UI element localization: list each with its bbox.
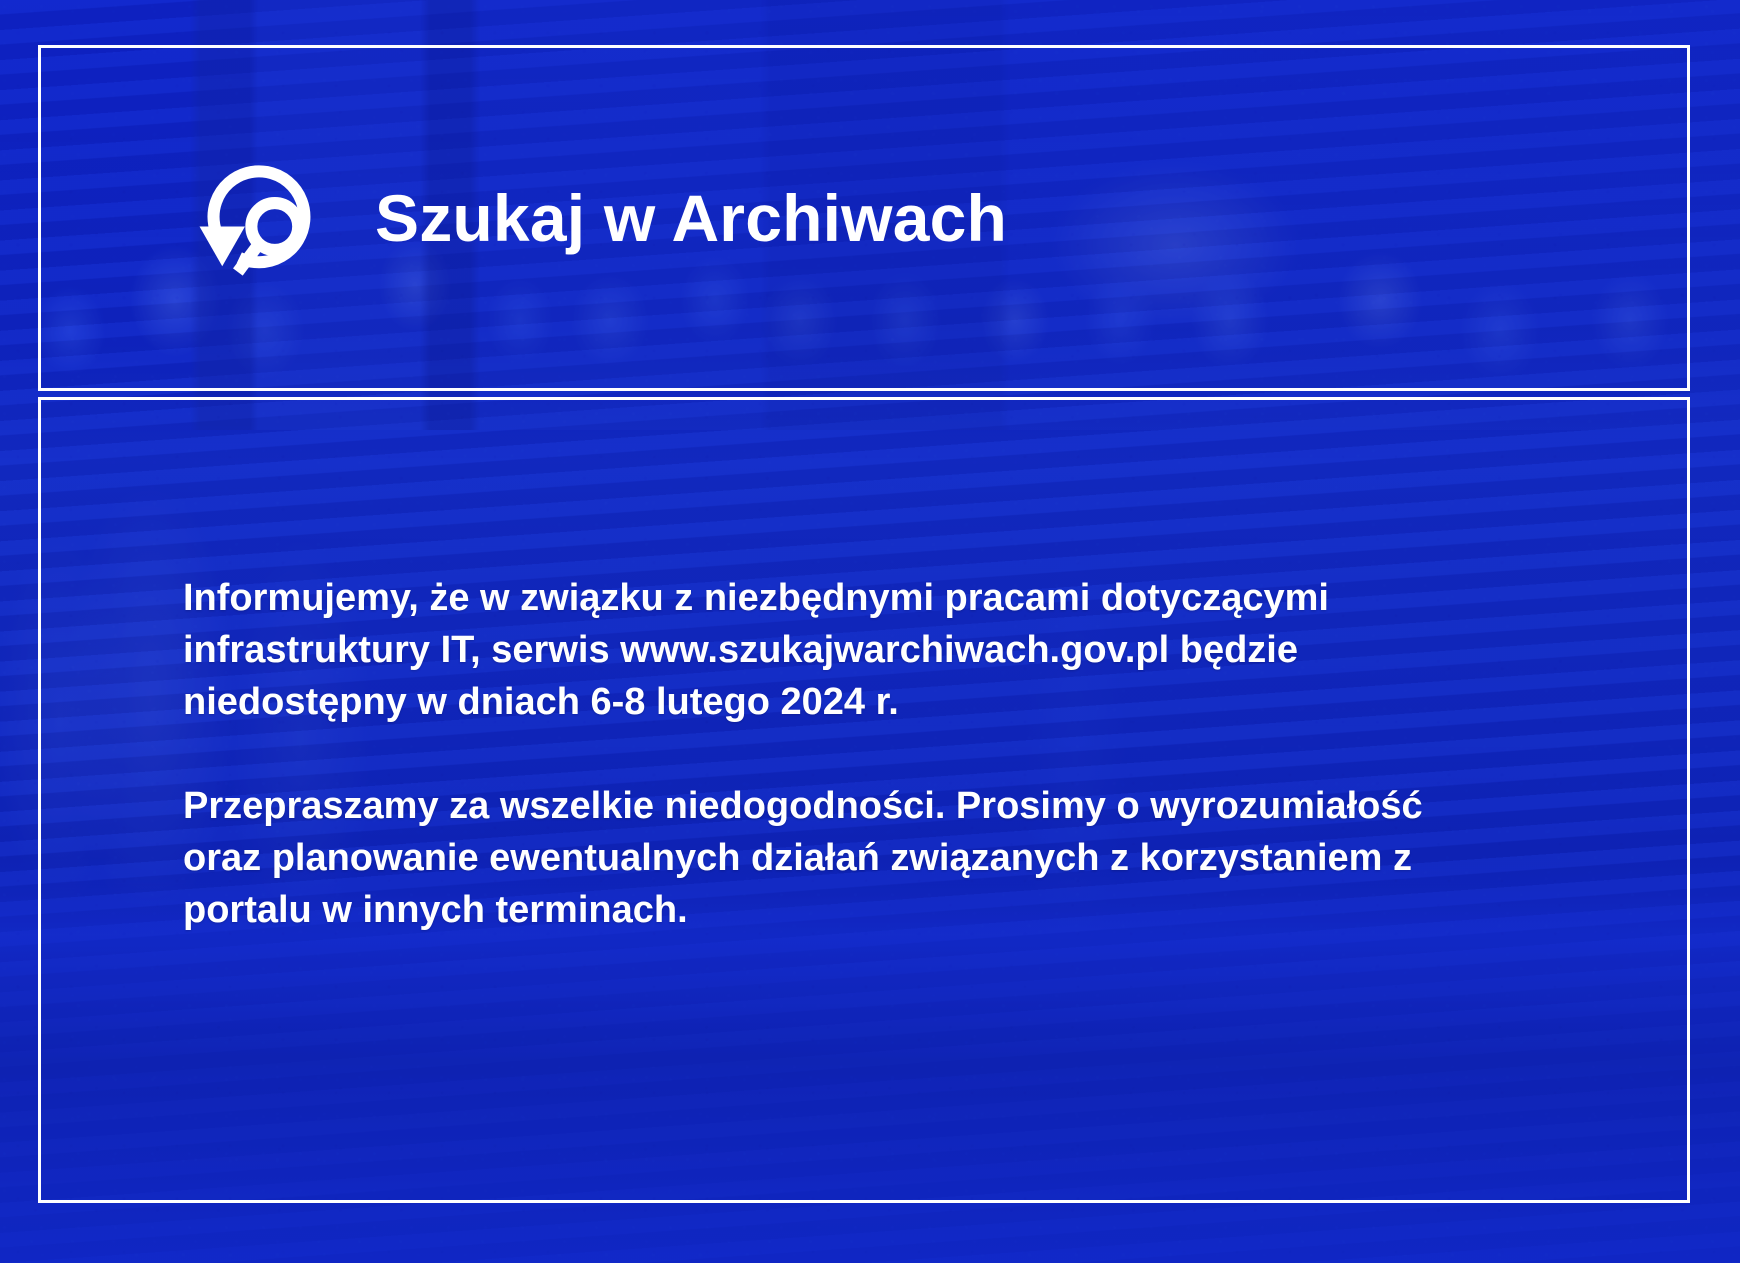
maintenance-notice-banner: Szukaj w Archiwach Informujemy, że w zwi… [0,0,1740,1263]
frame-divider-line [38,388,1690,391]
frame-header-box: Szukaj w Archiwach [38,45,1690,388]
page-title: Szukaj w Archiwach [375,185,1007,251]
szukajwarchiwach-logo-icon [191,147,333,289]
content-frame: Szukaj w Archiwach Informujemy, że w zwi… [38,45,1690,1203]
notice-paragraph-apology: Przepraszamy za wszelkie niedogodności. … [183,780,1493,936]
brand-lockup: Szukaj w Archiwach [191,147,1007,289]
notice-message: Informujemy, że w związku z niezbędnymi … [183,572,1493,936]
frame-body-box: Informujemy, że w związku z niezbędnymi … [38,397,1690,1203]
notice-paragraph-outage: Informujemy, że w związku z niezbędnymi … [183,572,1493,728]
